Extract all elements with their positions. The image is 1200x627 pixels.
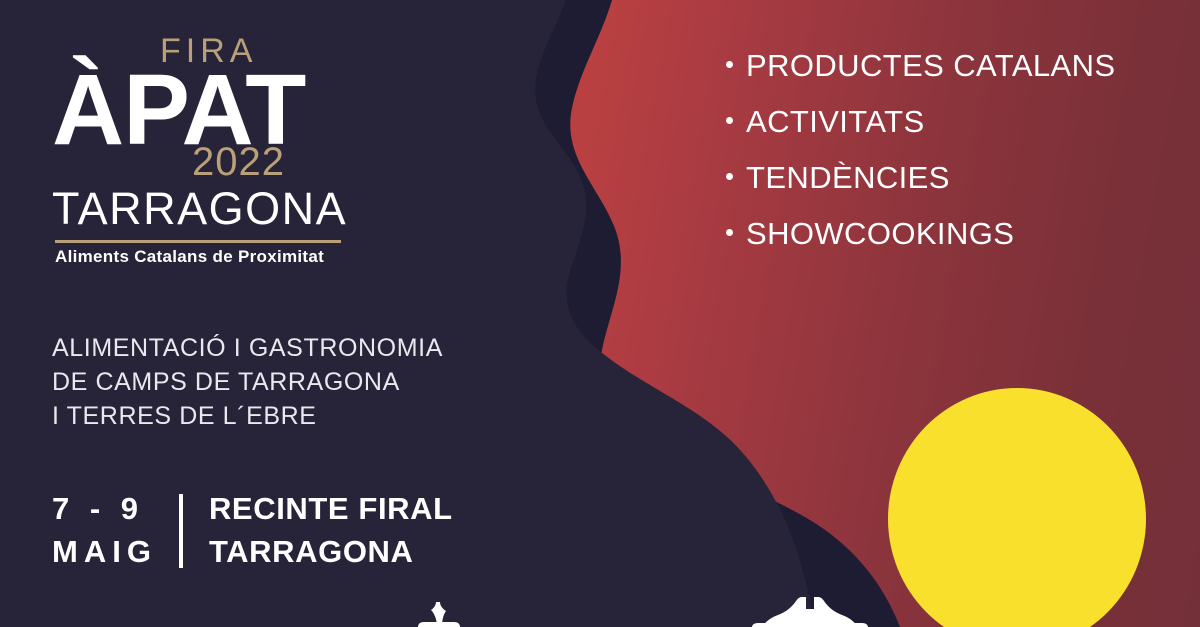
description-line: DE CAMPS DE TARRAGONA [52,366,443,400]
bullet-dot-icon [726,61,733,68]
event-date: 7 - 9 MAIG [52,488,157,574]
generalitat-logo-partial [418,602,460,627]
highlight-item: SHOWCOOKINGS [726,218,1116,249]
event-venue-city: TARRAGONA [209,531,453,574]
poster-banner: FIRA ÀPAT 2022 TARRAGONA Aliments Catala… [0,0,1200,627]
event-date-days: 7 - 9 [52,488,157,531]
bullet-dot-icon [726,229,733,236]
event-venue-name: RECINTE FIRAL [209,488,453,531]
highlight-item: ACTIVITATS [726,106,1116,137]
logo-city: TARRAGONA [52,186,347,231]
highlight-label: PRODUCTES CATALANS [746,48,1116,83]
tarragona-crest-partial [752,597,868,627]
logo-divider-rule [55,240,341,243]
description-line: ALIMENTACIÓ I GASTRONOMIA [52,332,443,366]
event-date-month: MAIG [52,531,157,574]
event-venue: RECINTE FIRAL TARRAGONA [209,488,453,574]
description-line: I TERRES DE L´EBRE [52,400,443,434]
bullet-dot-icon [726,173,733,180]
description-block: ALIMENTACIÓ I GASTRONOMIA DE CAMPS DE TA… [52,332,443,433]
partner-logos-strip [0,597,1200,627]
highlight-label: TENDÈNCIES [746,160,950,195]
vertical-divider [179,494,183,568]
highlight-label: ACTIVITATS [746,104,925,139]
highlights-list: PRODUCTES CATALANS ACTIVITATS TENDÈNCIES… [726,50,1116,274]
bullet-dot-icon [726,117,733,124]
logo-tagline: Aliments Catalans de Proximitat [55,248,324,265]
logo-year: 2022 [192,142,285,182]
highlight-item: PRODUCTES CATALANS [726,50,1116,81]
event-details: 7 - 9 MAIG RECINTE FIRAL TARRAGONA [52,488,453,574]
highlight-item: TENDÈNCIES [726,162,1116,193]
highlight-label: SHOWCOOKINGS [746,216,1014,251]
